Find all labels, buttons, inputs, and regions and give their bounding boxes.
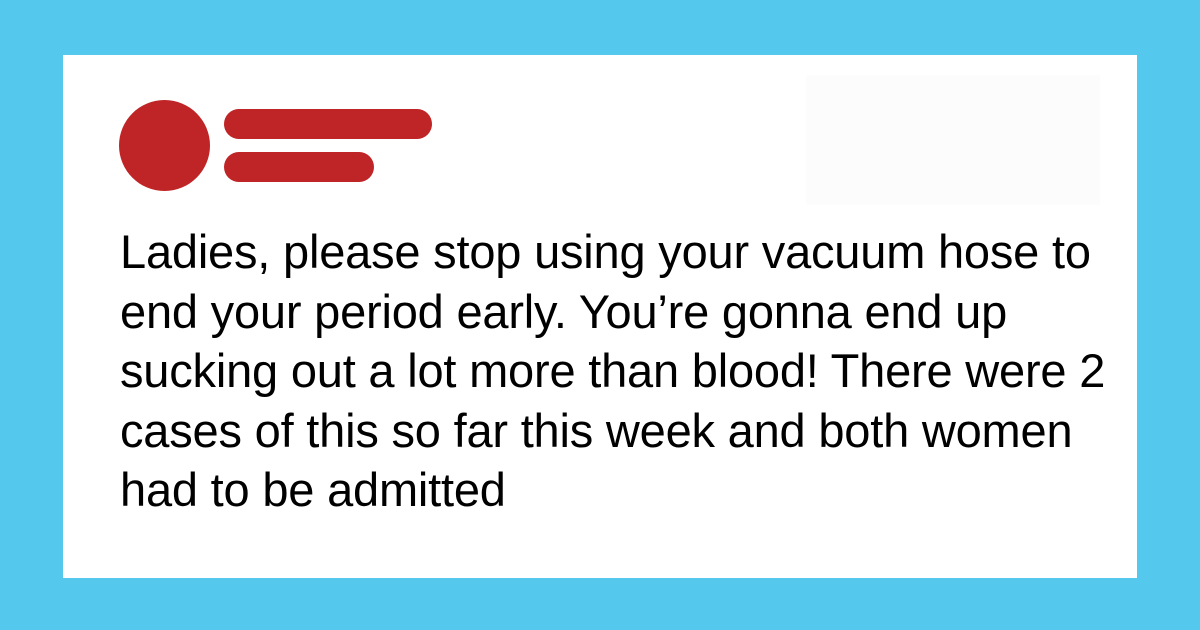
social-post-card: Ladies, please stop using your vacuum ho… <box>63 55 1137 578</box>
post-header <box>119 100 432 191</box>
author-name-bar-placeholder-icon <box>224 109 432 139</box>
author-meta-bar-placeholder-icon <box>224 152 374 182</box>
image-placeholder <box>806 75 1100 205</box>
image-frame: Ladies, please stop using your vacuum ho… <box>0 0 1200 630</box>
post-body-text: Ladies, please stop using your vacuum ho… <box>120 222 1117 520</box>
post-author-placeholder-lines <box>224 109 432 182</box>
avatar-circle-placeholder-icon <box>119 100 210 191</box>
